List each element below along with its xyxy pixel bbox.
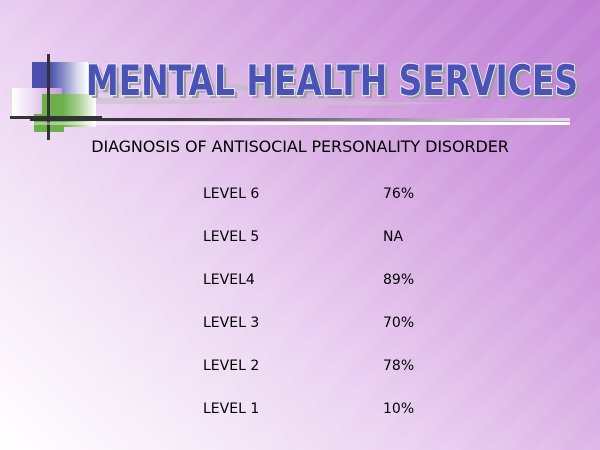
level-value: 78% xyxy=(383,358,414,374)
divider-rule-light xyxy=(30,122,570,125)
level-value: NA xyxy=(383,229,403,245)
presentation-slide: MENTAL HEALTH SERVICES MENTAL HEALTH SER… xyxy=(0,0,600,450)
level-results-table: LEVEL 6 76% LEVEL 5 NA LEVEL4 89% LEVEL … xyxy=(0,186,600,444)
table-row: LEVEL 6 76% xyxy=(0,186,600,229)
level-value: 70% xyxy=(383,315,414,331)
logo-crosshair-vertical xyxy=(47,54,50,140)
slide-subtitle: DIAGNOSIS OF ANTISOCIAL PERSONALITY DISO… xyxy=(0,137,600,156)
table-row: LEVEL 1 10% xyxy=(0,401,600,444)
level-value: 89% xyxy=(383,272,414,288)
level-label: LEVEL4 xyxy=(203,272,255,288)
level-label: LEVEL 5 xyxy=(203,229,259,245)
table-row: LEVEL 3 70% xyxy=(0,315,600,358)
page-title: MENTAL HEALTH SERVICES MENTAL HEALTH SER… xyxy=(82,56,582,112)
level-label: LEVEL 6 xyxy=(203,186,259,202)
table-row: LEVEL 2 78% xyxy=(0,358,600,401)
page-title-text: MENTAL HEALTH SERVICES xyxy=(86,56,578,105)
divider-rule-dark xyxy=(30,118,570,121)
level-value: 10% xyxy=(383,401,414,417)
table-row: LEVEL4 89% xyxy=(0,272,600,315)
level-label: LEVEL 3 xyxy=(203,315,259,331)
level-label: LEVEL 2 xyxy=(203,358,259,374)
level-value: 76% xyxy=(383,186,414,202)
level-label: LEVEL 1 xyxy=(203,401,259,417)
table-row: LEVEL 5 NA xyxy=(0,229,600,272)
